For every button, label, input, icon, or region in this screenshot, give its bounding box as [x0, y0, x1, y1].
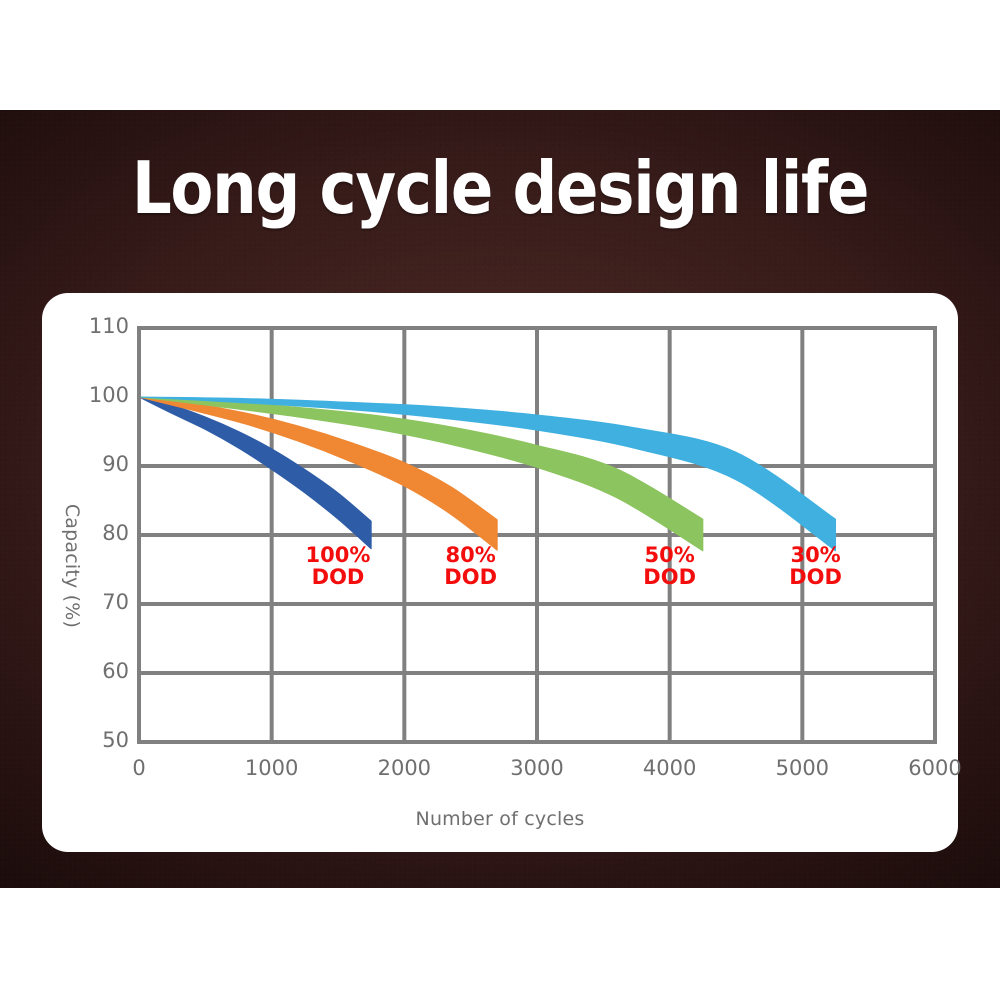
- x-tick-label: 1000: [227, 756, 317, 780]
- y-tick-label: 100: [67, 383, 129, 407]
- dod-annotation: 100% DOD: [278, 544, 398, 588]
- x-tick-label: 3000: [492, 756, 582, 780]
- x-tick-label: 2000: [359, 756, 449, 780]
- x-tick-label: 5000: [757, 756, 847, 780]
- y-tick-label: 70: [67, 590, 129, 614]
- x-tick-label: 4000: [625, 756, 715, 780]
- page-title: Long cycle design life: [65, 152, 935, 224]
- y-tick-label: 110: [67, 314, 129, 338]
- y-tick-label: 50: [67, 728, 129, 752]
- dod-annotation: 30% DOD: [756, 544, 876, 588]
- dod-annotation: 80% DOD: [411, 544, 531, 588]
- y-axis-title: Capacity (%): [61, 476, 83, 656]
- y-tick-label: 80: [67, 521, 129, 545]
- chart-card: Capacity (%) Number of cycles 5060708090…: [42, 293, 958, 852]
- x-axis-title: Number of cycles: [42, 808, 958, 830]
- capacity-vs-cycles-chart: Capacity (%) Number of cycles 5060708090…: [42, 293, 958, 852]
- poster-stage: Long cycle design life Capacity (%) Numb…: [0, 0, 1000, 1000]
- x-tick-label: 0: [94, 756, 184, 780]
- x-tick-label: 6000: [890, 756, 980, 780]
- dod-annotation: 50% DOD: [610, 544, 730, 588]
- y-tick-label: 90: [67, 452, 129, 476]
- series-band-group: [139, 397, 836, 551]
- y-tick-label: 60: [67, 659, 129, 683]
